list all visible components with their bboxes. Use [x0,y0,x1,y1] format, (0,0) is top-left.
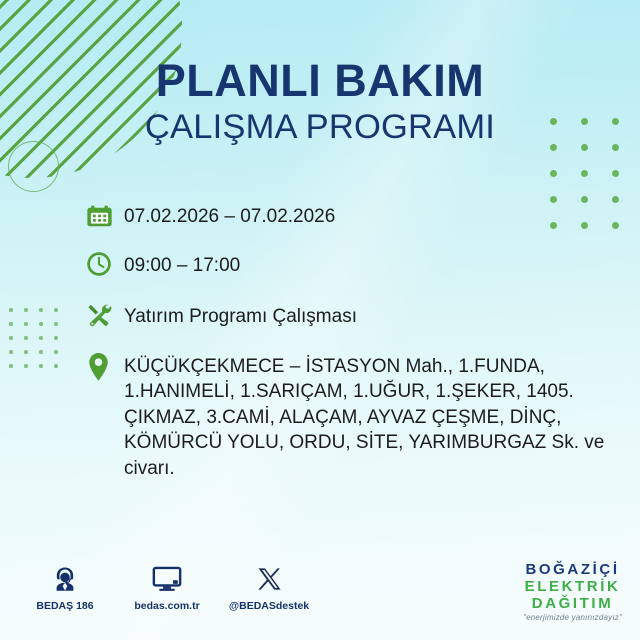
contact-website[interactable]: bedas.com.tr [128,562,206,612]
headset-icon [51,562,79,595]
detail-row-work-type: Yatırım Programı Çalışması [86,302,626,336]
logo-line-bogazici: BOĞAZİÇİ [523,562,622,579]
contact-call-center[interactable]: BEDAŞ 186 [26,562,104,612]
contact-channels: BEDAŞ 186 bedas.com.tr [26,562,308,612]
contact-call-center-label: BEDAŞ 186 [36,600,93,612]
maintenance-details: 07.02.2026 – 07.02.2026 09:00 – 17:00 [86,202,626,494]
detail-row-address: KÜÇÜKÇEKMECE – İSTASYON Mah., 1.FUNDA, 1… [86,352,626,481]
circle-outline-decoration [8,141,59,192]
maintenance-work-type: Yatırım Programı Çalışması [124,302,357,329]
maintenance-time-range: 09:00 – 17:00 [124,251,240,278]
calendar-icon [86,202,124,236]
poster-footer: BEDAŞ 186 bedas.com.tr [0,554,640,640]
planned-maintenance-poster: PLANLI BAKIM ÇALIŞMA PROGRAMI [0,0,640,640]
monitor-icon [152,562,182,595]
maintenance-address: KÜÇÜKÇEKMECE – İSTASYON Mah., 1.FUNDA, 1… [124,352,616,481]
page-subtitle: ÇALIŞMA PROGRAMI [0,110,640,145]
dot-grid-left-decoration [9,308,69,378]
contact-website-label: bedas.com.tr [134,600,199,612]
contact-x-account[interactable]: @BEDASdestek [230,562,308,612]
detail-row-time: 09:00 – 17:00 [86,251,626,285]
location-pin-icon [86,352,124,386]
clock-icon [86,251,124,285]
x-twitter-icon [256,562,282,595]
logo-tagline: "enerjimizde yanınızdayız" [523,614,622,623]
poster-title-block: PLANLI BAKIM ÇALIŞMA PROGRAMI [0,58,640,145]
logo-line-dagitim: DAĞITIM [523,596,622,613]
company-logo: BOĞAZİÇİ ELEKTRİK DAĞITIM "enerjimizde y… [523,562,622,623]
logo-line-elektrik: ELEKTRİK [523,579,622,596]
maintenance-date-range: 07.02.2026 – 07.02.2026 [124,202,335,229]
contact-x-label: @BEDASdestek [229,600,309,612]
detail-row-date: 07.02.2026 – 07.02.2026 [86,202,626,236]
tools-icon [86,302,124,336]
page-title: PLANLI BAKIM [0,58,640,103]
